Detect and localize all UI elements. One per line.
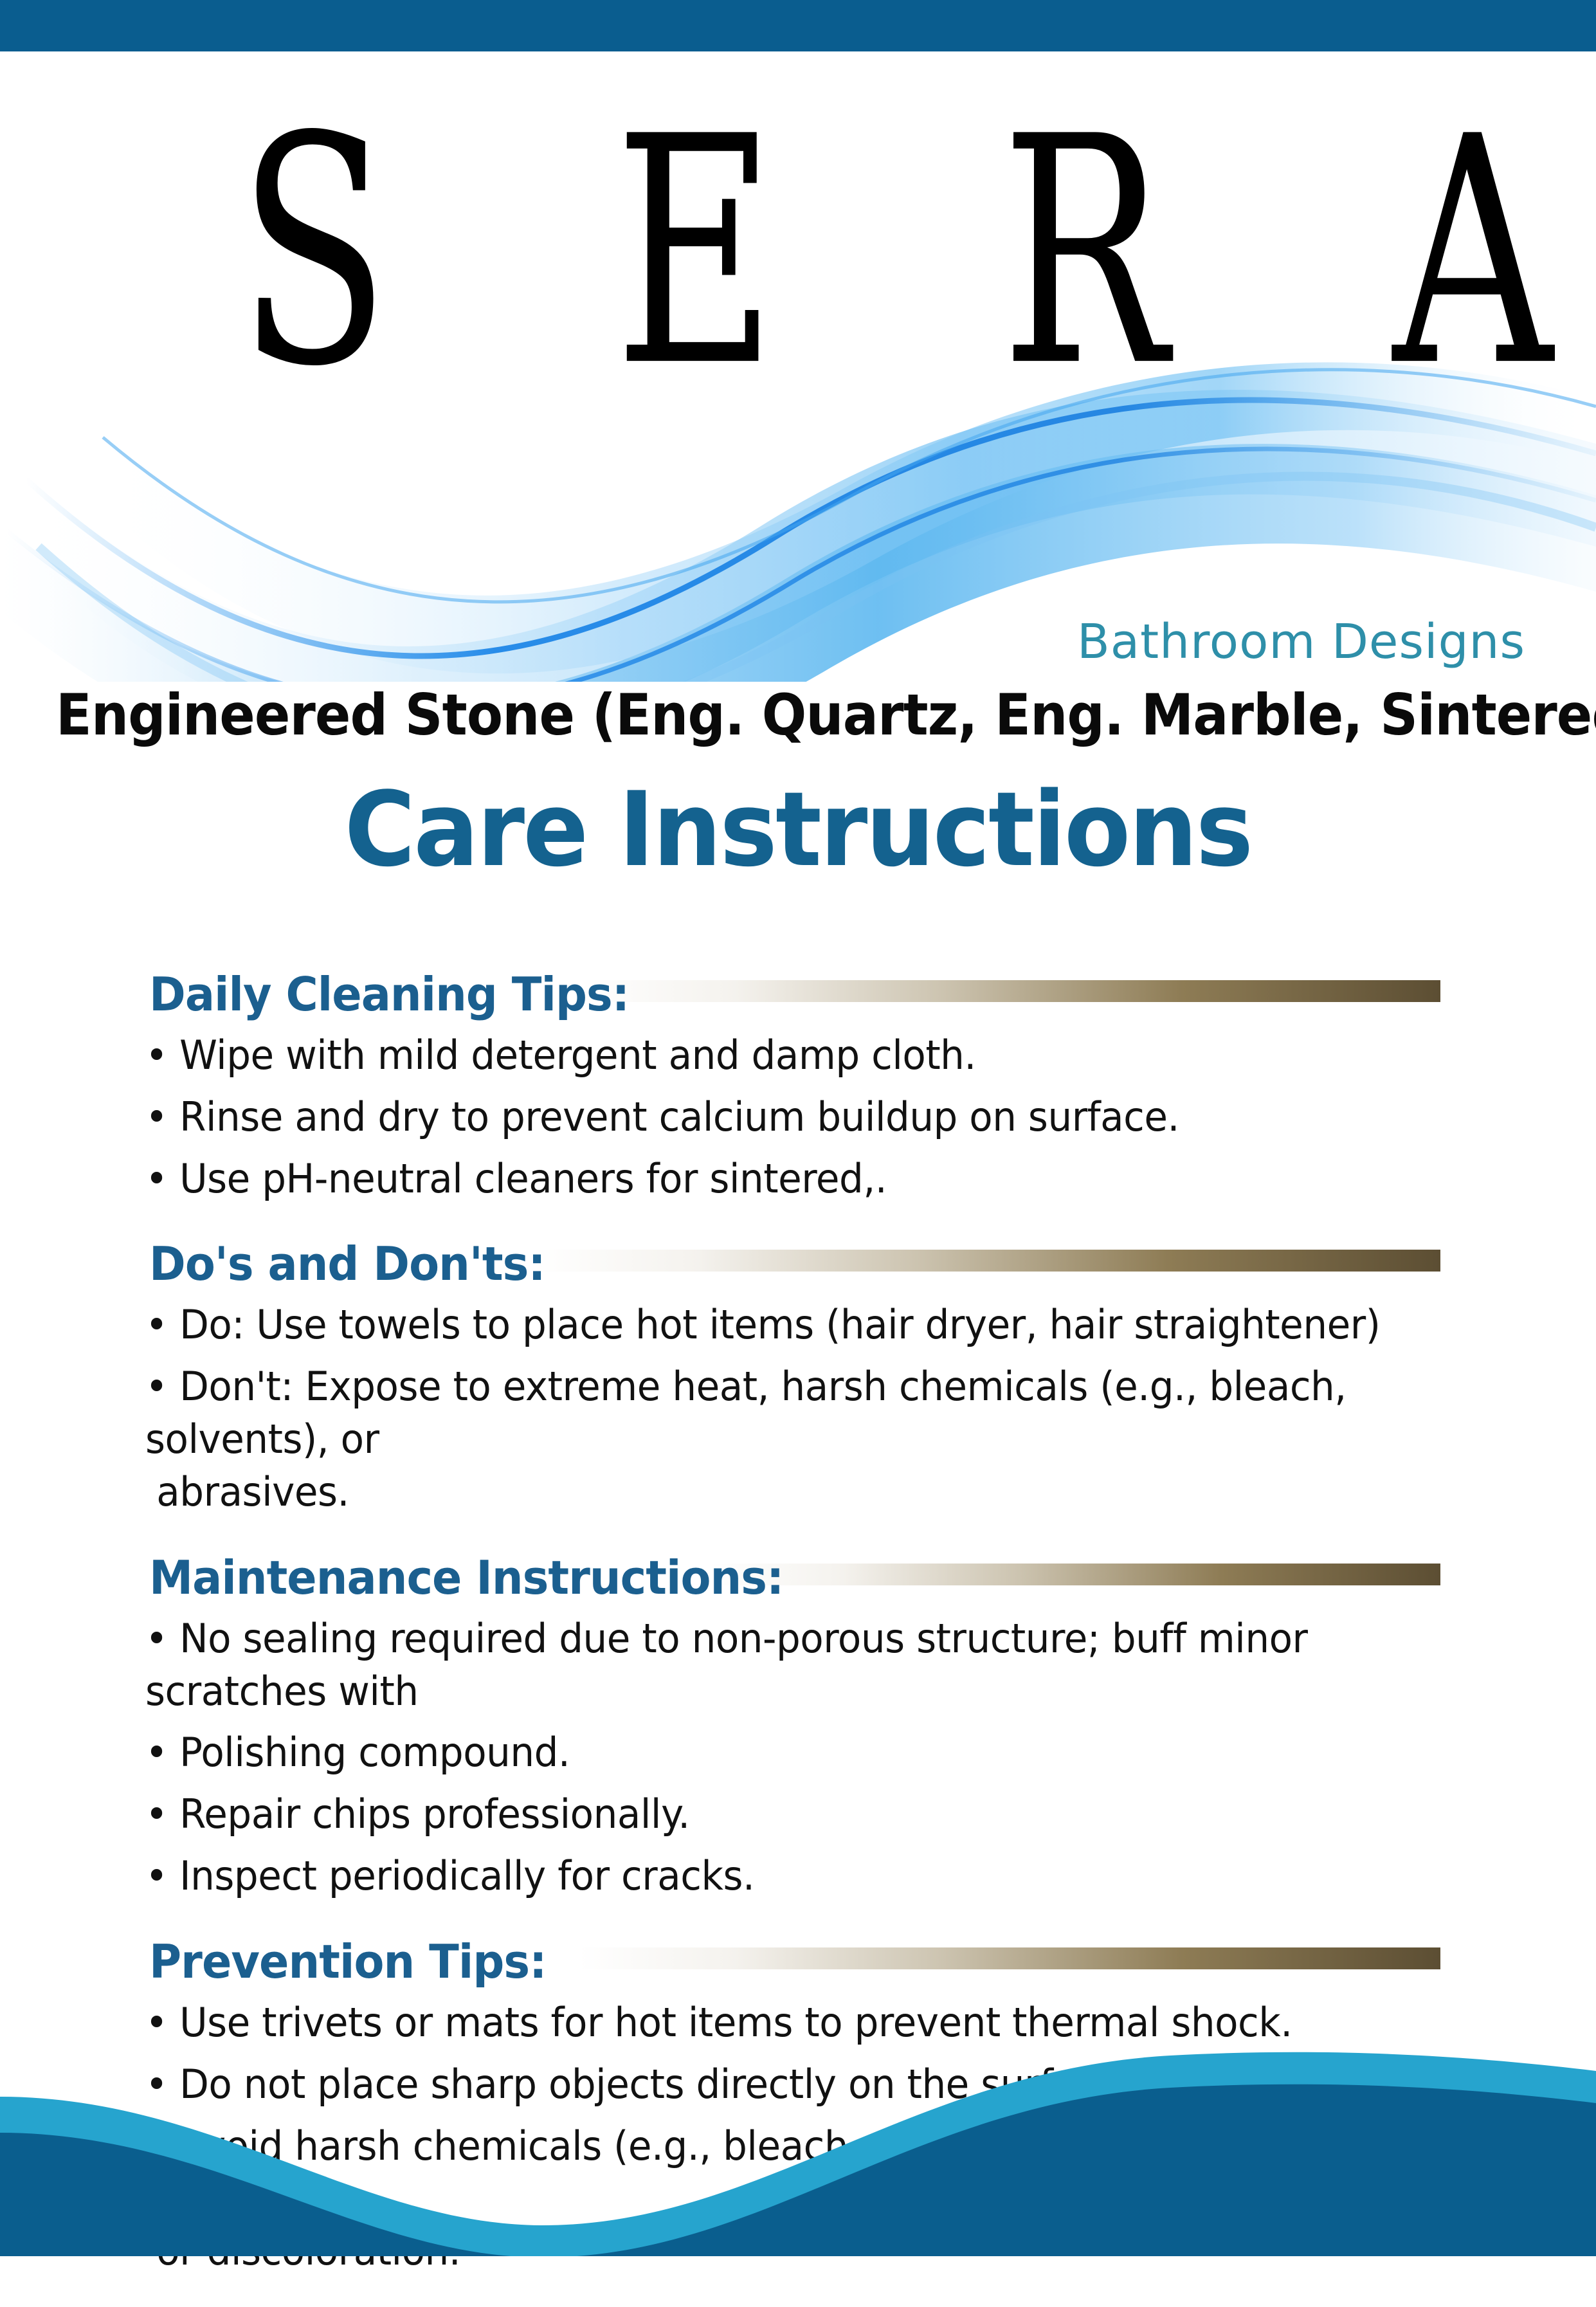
- bullet-text: • Rinse and dry to prevent calcium build…: [145, 1093, 1179, 1140]
- section-heading: Do's and Don'ts:: [149, 1237, 545, 1291]
- bullet-continuation: abrasives.: [145, 1466, 1417, 1518]
- bullet-item: • Don't: Expose to extreme heat, harsh c…: [145, 1360, 1417, 1518]
- section-divider-bar: [579, 1947, 1440, 1969]
- section-heading: Maintenance Instructions:: [149, 1551, 783, 1605]
- top-accent-bar: [0, 0, 1596, 51]
- section-divider-bar: [579, 980, 1440, 1002]
- bullet-list: • No sealing required due to non-porous …: [0, 1607, 1596, 1902]
- bullet-text: • Polishing compound.: [145, 1729, 570, 1776]
- bullet-item: • Rinse and dry to prevent calcium build…: [145, 1091, 1417, 1144]
- bullet-item: • Wipe with mild detergent and damp clot…: [145, 1029, 1417, 1082]
- bullet-list: • Wipe with mild detergent and damp clot…: [0, 1024, 1596, 1205]
- section-heading: Daily Cleaning Tips:: [149, 967, 629, 1021]
- brand-tagline: Bathroom Designs: [1077, 614, 1525, 670]
- bullet-list: • Do: Use towels to place hot items (hai…: [0, 1293, 1596, 1518]
- section-heading-row: Prevention Tips:: [0, 1932, 1596, 1991]
- bullet-text: • Don't: Expose to extreme heat, harsh c…: [145, 1363, 1347, 1463]
- footer-wave-svg: [0, 2038, 1596, 2256]
- section-divider-bar: [711, 1564, 1440, 1585]
- footer-wave-graphic: [0, 2038, 1596, 2256]
- bullet-item: • Repair chips professionally.: [145, 1788, 1417, 1841]
- section-heading-row: Do's and Don'ts:: [0, 1234, 1596, 1293]
- page-title: Care Instructions: [48, 778, 1548, 881]
- section-heading-row: Maintenance Instructions:: [0, 1548, 1596, 1607]
- brand-logo-text: S E R A: [238, 96, 1233, 410]
- content-section: Maintenance Instructions:• No sealing re…: [0, 1548, 1596, 1902]
- logo-block: S E R A: [0, 96, 1596, 405]
- bullet-text: • Use pH-neutral cleaners for sintered,.: [145, 1155, 887, 1202]
- page-subtitle: Engineered Stone (Eng. Quartz, Eng. Marb…: [56, 682, 1540, 748]
- bullet-text: • No sealing required due to non-porous …: [145, 1615, 1308, 1715]
- content-section: Do's and Don'ts:• Do: Use towels to plac…: [0, 1234, 1596, 1518]
- bullet-item: • Inspect periodically for cracks.: [145, 1850, 1417, 1902]
- content-section: Daily Cleaning Tips:• Wipe with mild det…: [0, 965, 1596, 1205]
- bullet-text: • Wipe with mild detergent and damp clot…: [145, 1032, 976, 1079]
- bullet-text: • Repair chips professionally.: [145, 1791, 690, 1837]
- section-heading-row: Daily Cleaning Tips:: [0, 965, 1596, 1024]
- section-heading: Prevention Tips:: [149, 1935, 547, 1989]
- bullet-item: • Do: Use towels to place hot items (hai…: [145, 1299, 1417, 1351]
- bullet-item: • No sealing required due to non-porous …: [145, 1612, 1417, 1718]
- section-divider-bar: [534, 1250, 1440, 1272]
- bullet-item: • Use pH-neutral cleaners for sintered,.: [145, 1153, 1417, 1205]
- bullet-text: • Inspect periodically for cracks.: [145, 1852, 754, 1899]
- bullet-item: • Polishing compound.: [145, 1726, 1417, 1779]
- bullet-text: • Do: Use towels to place hot items (hai…: [145, 1301, 1380, 1348]
